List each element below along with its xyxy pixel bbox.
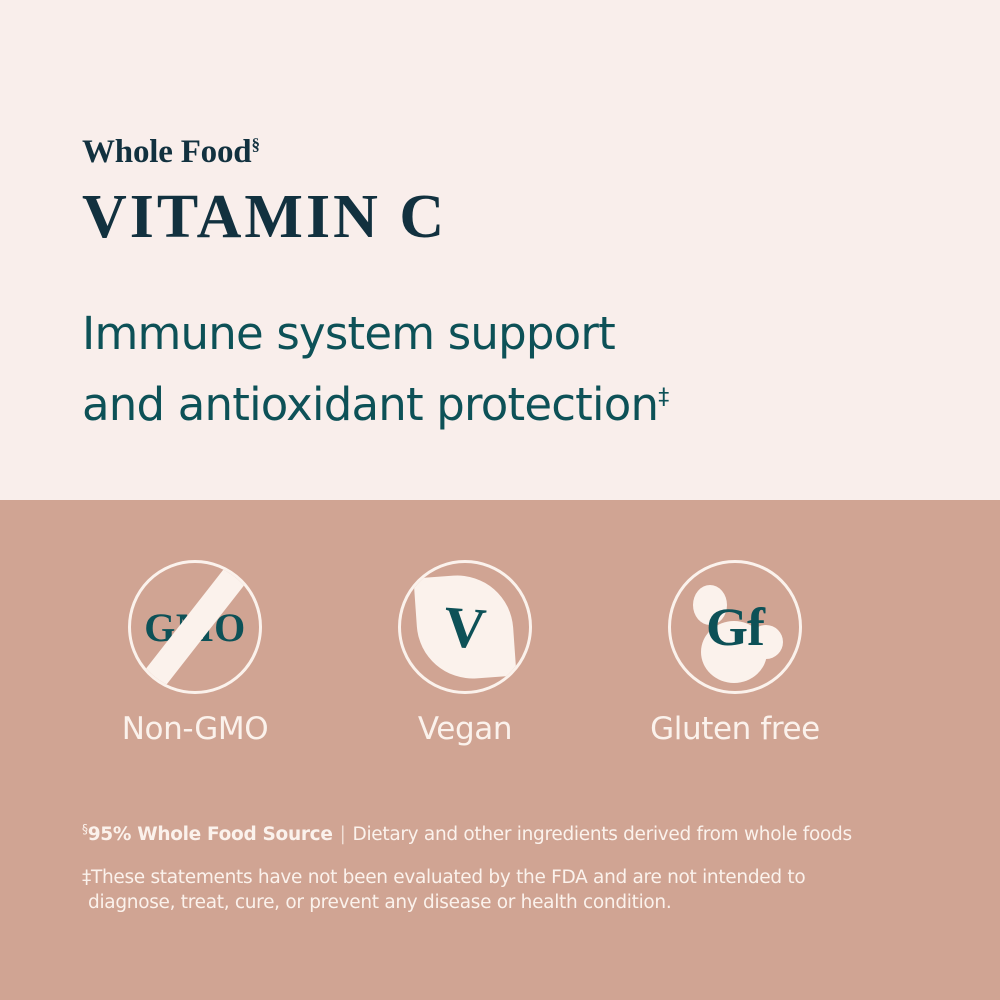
footnote-fda-disclaimer: ‡These statements have not been evaluate… bbox=[82, 865, 932, 915]
footnote-source-bold: 95% Whole Food Source bbox=[88, 824, 333, 845]
certification-badge-list: GMO Non-GMO V Vegan Gf bbox=[60, 560, 870, 745]
vegan-icon-text: V bbox=[398, 560, 532, 694]
gluten-free-grain-icon: Gf bbox=[668, 560, 802, 694]
badge-label-non-gmo: Non-GMO bbox=[122, 714, 269, 745]
footnote-whole-food-source: §95% Whole Food Source|Dietary and other… bbox=[82, 823, 932, 848]
footnote-fda-line-2: diagnose, treat, cure, or prevent any di… bbox=[82, 890, 932, 915]
footnote-fda-marker: ‡ bbox=[82, 867, 91, 888]
eyebrow-whole-food: Whole Food§ bbox=[82, 136, 260, 169]
footnote-divider: | bbox=[333, 823, 353, 848]
footnote-source-detail: Dietary and other ingredients derived fr… bbox=[353, 824, 852, 845]
subheading: Immune system support and antioxidant pr… bbox=[82, 298, 922, 440]
page-title: VITAMIN C bbox=[82, 186, 447, 248]
eyebrow-label: Whole Food bbox=[82, 134, 251, 170]
subheading-line-2: and antioxidant protection bbox=[82, 378, 658, 431]
badge-vegan: V Vegan bbox=[330, 560, 600, 745]
badge-label-vegan: Vegan bbox=[418, 714, 512, 745]
badge-gluten-free: Gf Gluten free bbox=[600, 560, 870, 745]
product-marketing-graphic: Whole Food§ VITAMIN C Immune system supp… bbox=[0, 0, 1000, 1000]
hero-section: Whole Food§ VITAMIN C Immune system supp… bbox=[0, 0, 1000, 500]
gluten-free-icon-text: Gf bbox=[671, 563, 799, 691]
eyebrow-footnote-marker: § bbox=[251, 135, 259, 154]
subheading-line-1: Immune system support bbox=[82, 307, 615, 360]
no-gmo-icon: GMO bbox=[128, 560, 262, 694]
subheading-footnote-marker: ‡ bbox=[658, 385, 668, 410]
footnotes: §95% Whole Food Source|Dietary and other… bbox=[82, 823, 932, 915]
badge-non-gmo: GMO Non-GMO bbox=[60, 560, 330, 745]
badge-label-gluten-free: Gluten free bbox=[650, 714, 820, 745]
footnote-fda-line-1: These statements have not been evaluated… bbox=[91, 867, 805, 888]
vegan-leaf-icon: V bbox=[398, 560, 532, 694]
certifications-section: GMO Non-GMO V Vegan Gf bbox=[0, 500, 1000, 1000]
